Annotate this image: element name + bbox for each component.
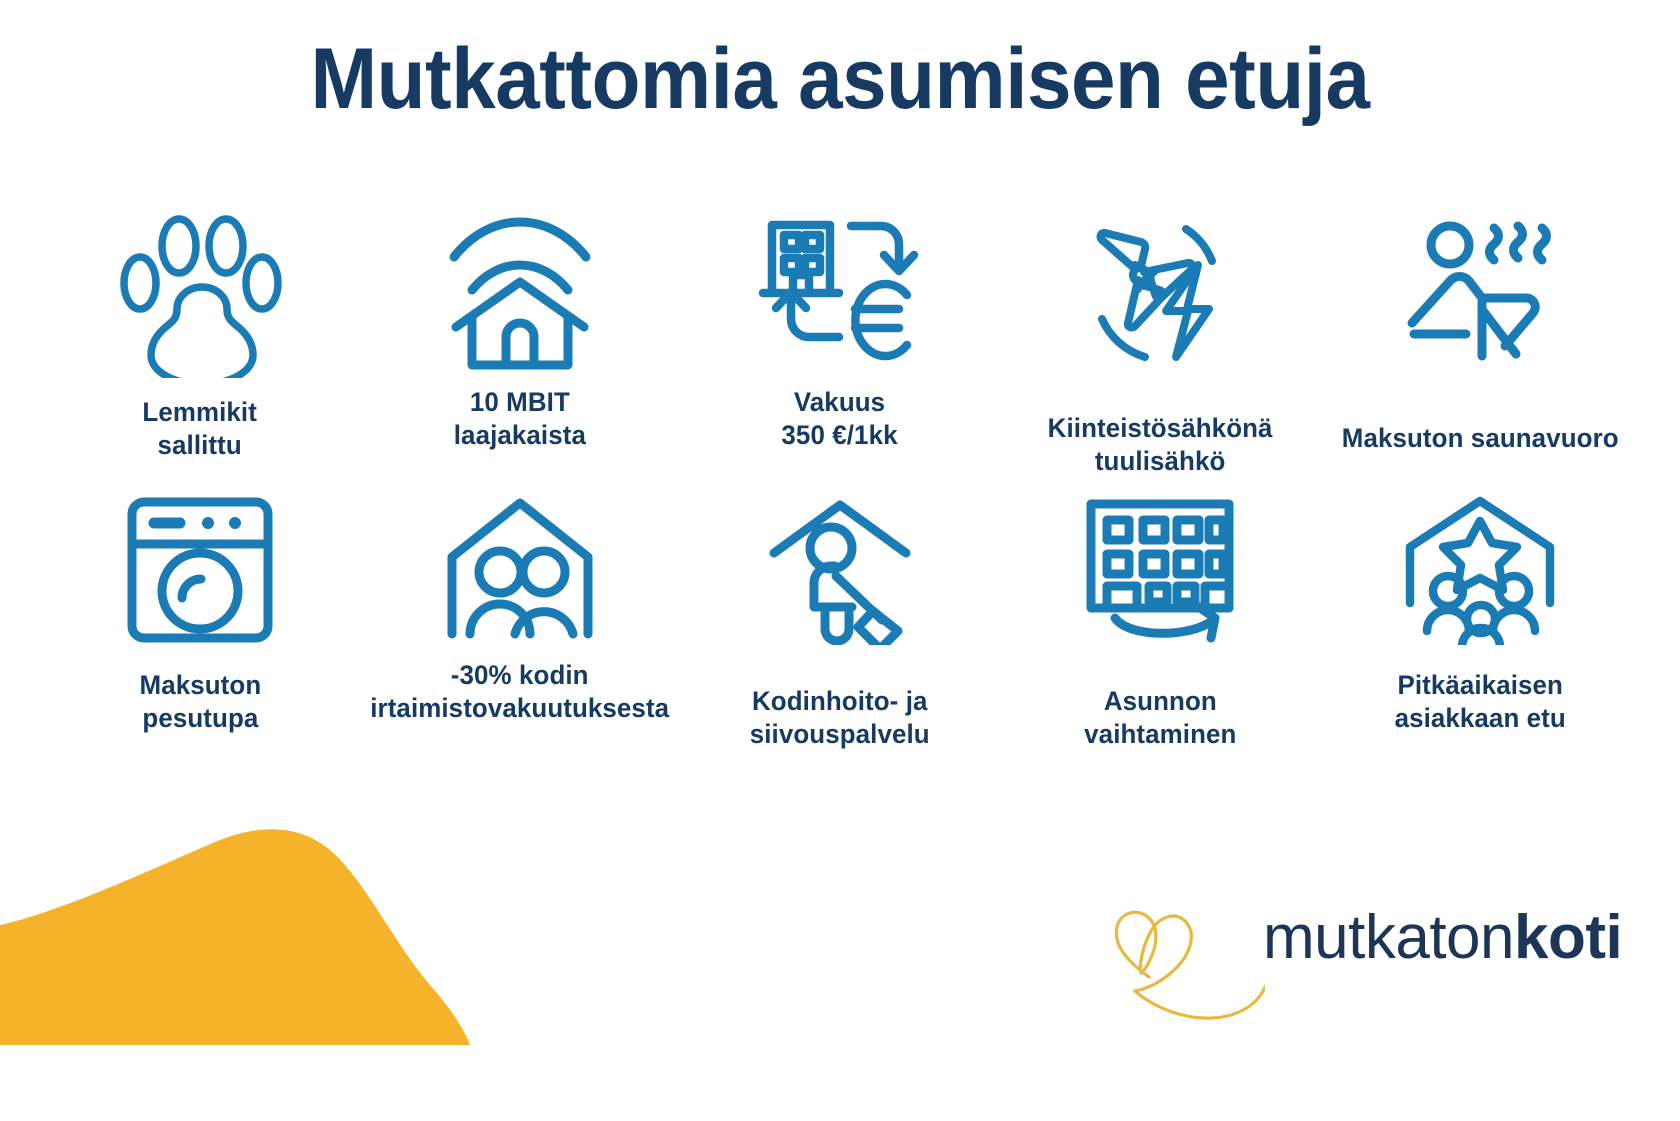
benefit-item-insurance: -30% kodin irtaimistovakuutuksesta <box>360 478 680 751</box>
benefit-label: Vakuus 350 €/1kk <box>782 386 898 452</box>
benefit-label: -30% kodin irtaimistovakuutuksesta <box>371 659 670 725</box>
benefits-row-1: Lemmikit sallittu 10 MBIT laajakaista <box>40 200 1640 478</box>
benefit-item-apartment-swap: Asunnon vaihtaminen <box>1000 478 1320 751</box>
benefit-item-broadband: 10 MBIT laajakaista <box>360 200 680 478</box>
paw-print-icon <box>116 200 284 390</box>
wifi-house-icon <box>440 200 600 390</box>
logo-wordmark: mutkatonkoti <box>1263 907 1622 969</box>
sauna-person-icon <box>1398 200 1563 390</box>
apartment-block-swap-icon <box>1081 478 1239 663</box>
benefits-row-2: Maksuton pesutupa -30% kodin irtaimistov… <box>40 478 1640 751</box>
benefit-item-sauna: Maksuton saunavuoro <box>1320 200 1640 478</box>
house-family-icon <box>440 478 600 663</box>
benefits-grid: Lemmikit sallittu 10 MBIT laajakaista <box>40 200 1640 751</box>
heart-swoosh-icon <box>1095 885 1265 1035</box>
cleaning-person-broom-icon <box>764 478 916 663</box>
house-star-family-icon <box>1400 478 1560 663</box>
benefit-label: Lemmikit sallittu <box>143 396 258 462</box>
benefit-label: Maksuton pesutupa <box>139 669 261 735</box>
benefit-label: Maksuton saunavuoro <box>1342 422 1619 455</box>
benefit-label: 10 MBIT laajakaista <box>454 386 586 452</box>
logo-word-bold: koti <box>1514 903 1622 972</box>
wind-turbine-lightning-icon <box>1078 200 1243 390</box>
benefit-item-deposit: Vakuus 350 €/1kk <box>680 200 1000 478</box>
yellow-hill-shape <box>0 770 500 1060</box>
benefit-label: Pitkäaikaisen asiakkaan etu <box>1394 669 1565 735</box>
benefit-item-pets: Lemmikit sallittu <box>40 200 360 478</box>
page-title: Mutkattomia asumisen etuja <box>59 34 1621 124</box>
benefit-label: Kiinteistösähkönä tuulisähkö <box>1048 412 1273 478</box>
benefit-label: Asunnon vaihtaminen <box>1084 685 1236 751</box>
benefit-item-wind-power: Kiinteistösähkönä tuulisähkö <box>1000 200 1320 478</box>
benefit-item-cleaning: Kodinhoito- ja siivouspalvelu <box>680 478 1000 751</box>
logo-word-light: mutkaton <box>1263 903 1514 972</box>
benefit-item-laundry: Maksuton pesutupa <box>40 478 360 751</box>
logo: mutkatonkoti <box>1095 885 1565 1045</box>
benefit-label: Kodinhoito- ja siivouspalvelu <box>750 685 930 751</box>
benefit-item-loyalty: Pitkäaikaisen asiakkaan etu <box>1320 478 1640 751</box>
washing-machine-icon <box>124 478 276 663</box>
building-euro-exchange-icon <box>755 200 925 390</box>
